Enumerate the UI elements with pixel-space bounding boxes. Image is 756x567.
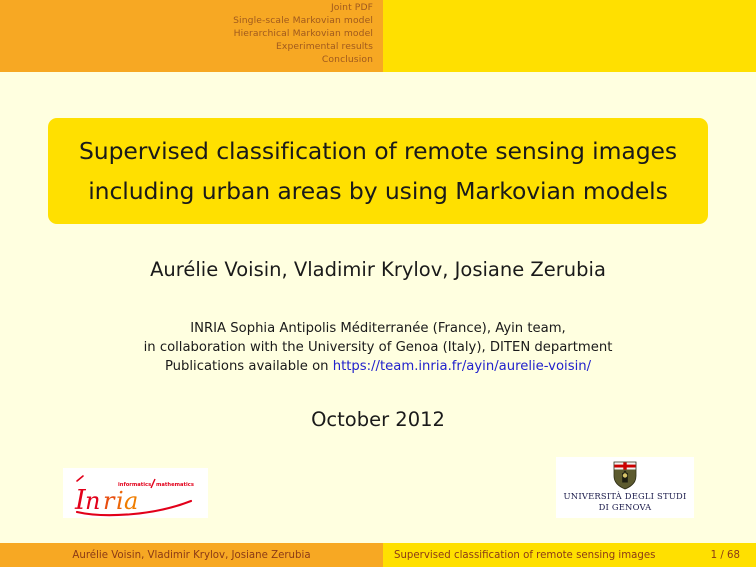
nav-item-joint-pdf[interactable]: Joint PDF [233, 1, 373, 14]
svg-text:n: n [85, 487, 100, 515]
affiliation-block: INRIA Sophia Antipolis Méditerranée (Fra… [0, 320, 756, 376]
svg-text:a: a [124, 487, 138, 515]
svg-text:r: r [103, 487, 116, 515]
nav-item-single-scale-markovian-model[interactable]: Single-scale Markovian model [233, 14, 373, 27]
nav-item-hierarchical-markovian-model[interactable]: Hierarchical Markovian model [233, 27, 373, 40]
inria-logo-icon: informatics mathematics I n r i a [63, 468, 208, 518]
genoa-logo-line-1: UNIVERSITÀ DEGLI STUDI [564, 491, 687, 502]
nav-item-experimental-results[interactable]: Experimental results [233, 40, 373, 53]
header-left-panel: Joint PDF Single-scale Markovian model H… [0, 0, 383, 72]
svg-text:mathematics: mathematics [156, 482, 194, 488]
genoa-logo-text: UNIVERSITÀ DEGLI STUDI DI GENOVA [564, 491, 687, 513]
affiliation-line-3: Publications available on https://team.i… [0, 358, 756, 377]
genoa-coat-of-arms-icon [610, 460, 640, 490]
nav-item-conclusion[interactable]: Conclusion [233, 53, 373, 66]
affiliation-line-2: in collaboration with the University of … [0, 339, 756, 358]
footer-left-panel: Aurélie Voisin, Vladimir Krylov, Josiane… [0, 543, 383, 567]
university-of-genoa-logo: UNIVERSITÀ DEGLI STUDI DI GENOVA [556, 457, 694, 518]
header-right-panel [383, 0, 756, 72]
genoa-logo-line-2: DI GENOVA [564, 502, 687, 513]
navigation-section-list: Joint PDF Single-scale Markovian model H… [233, 1, 373, 66]
author-list: Aurélie Voisin, Vladimir Krylov, Josiane… [0, 258, 756, 281]
svg-text:i: i [116, 487, 124, 515]
presentation-date: October 2012 [0, 408, 756, 431]
footer-title-text: Supervised classification of remote sens… [394, 550, 655, 561]
publications-label: Publications available on [165, 359, 333, 374]
footer-author-text: Aurélie Voisin, Vladimir Krylov, Josiane… [72, 550, 310, 561]
presentation-title-box: Supervised classification of remote sens… [48, 118, 708, 224]
publications-link[interactable]: https://team.inria.fr/ayin/aurelie-voisi… [333, 359, 591, 374]
footer-right-panel: Supervised classification of remote sens… [383, 543, 756, 567]
slide-header: Joint PDF Single-scale Markovian model H… [0, 0, 756, 72]
slide-footer: Aurélie Voisin, Vladimir Krylov, Josiane… [0, 543, 756, 567]
affiliation-line-1: INRIA Sophia Antipolis Méditerranée (Fra… [0, 320, 756, 339]
title-line-2: including urban areas by using Markovian… [88, 171, 668, 211]
title-line-1: Supervised classification of remote sens… [79, 131, 677, 171]
footer-page-number: 1 / 68 [711, 550, 740, 561]
inria-logo: informatics mathematics I n r i a [63, 468, 208, 518]
